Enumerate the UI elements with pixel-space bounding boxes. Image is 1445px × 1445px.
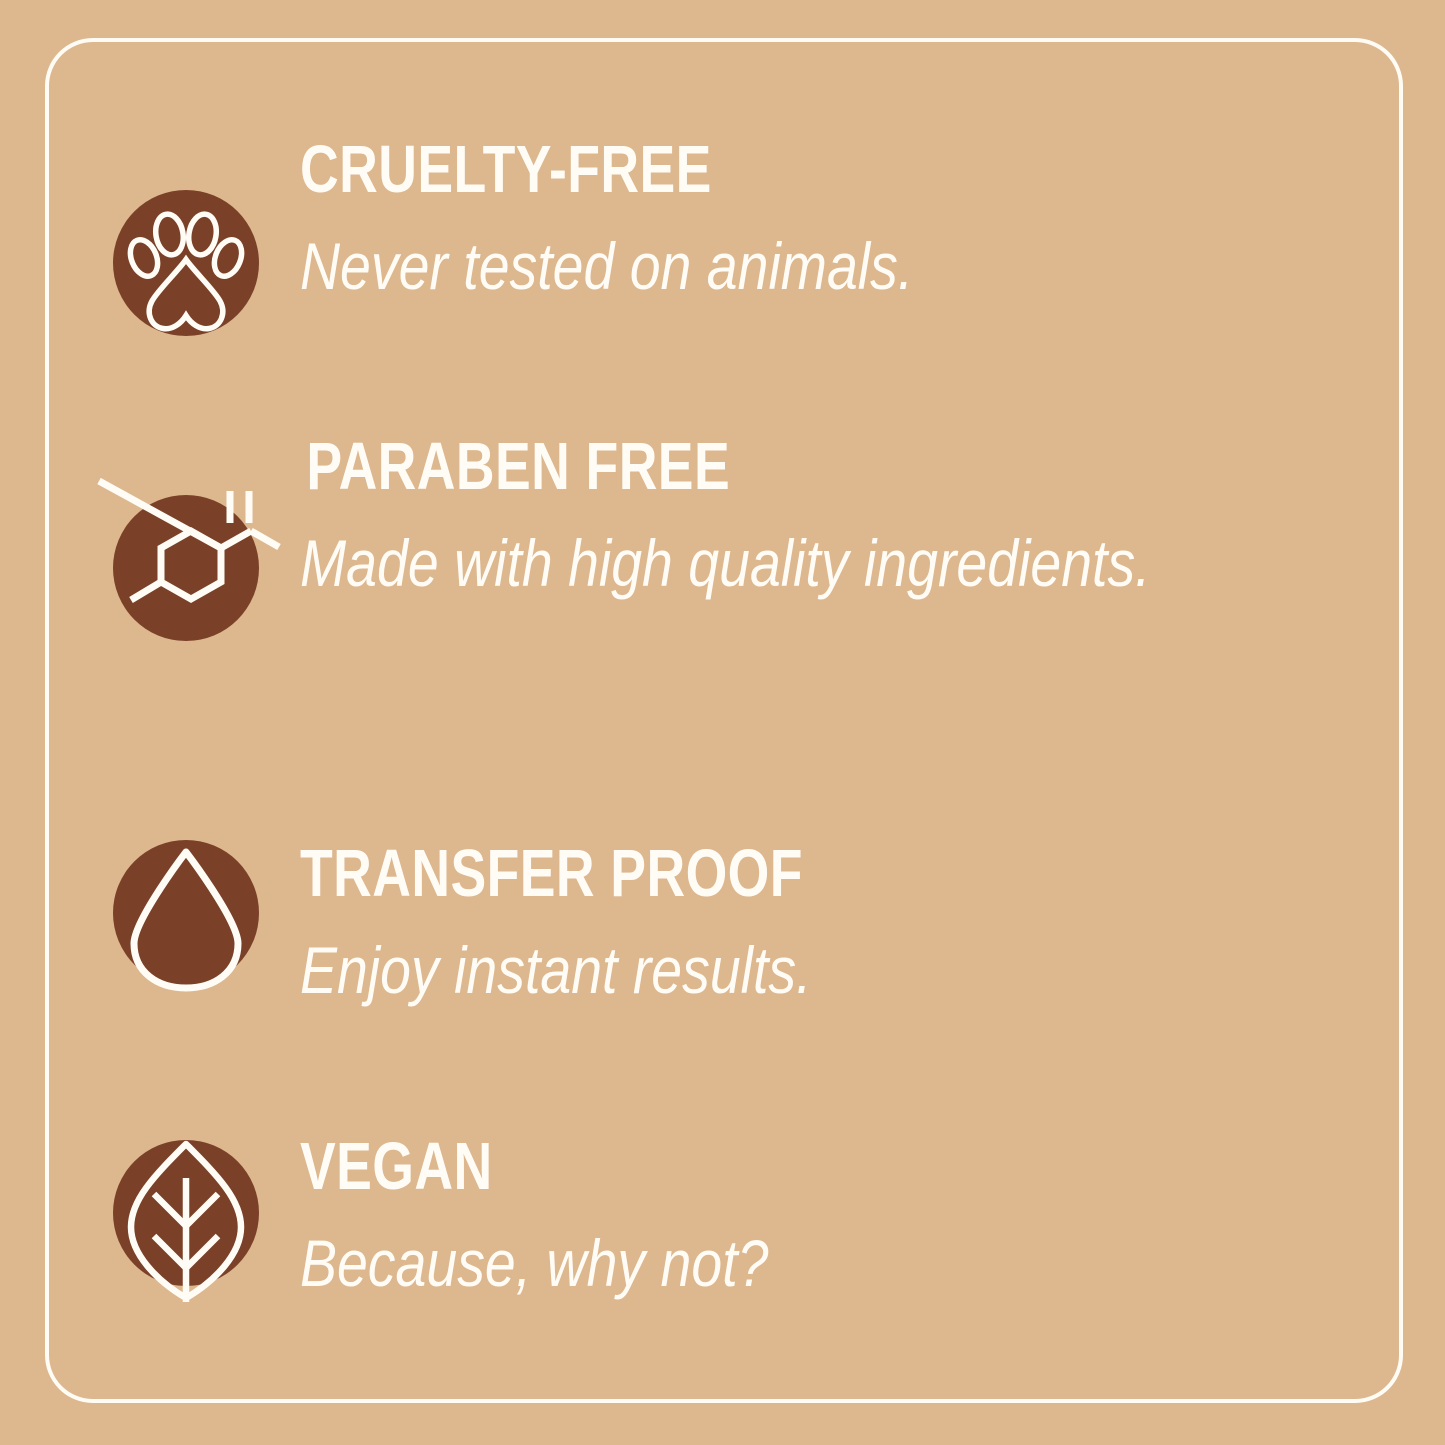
leaf-icon	[99, 1126, 273, 1300]
product-benefits-infographic: CRUELTY-FREE Never tested on animals. PA…	[0, 0, 1445, 1445]
feature-text-transfer-proof: TRANSFER PROOF Enjoy instant results.	[300, 842, 1365, 1017]
molecule-icon-badge	[113, 495, 259, 641]
feature-title-vegan: VEGAN	[300, 1135, 1152, 1199]
feature-title-paraben-free: PARABEN FREE	[300, 435, 1152, 499]
feature-title-cruelty-free: CRUELTY-FREE	[300, 138, 1152, 202]
feature-description-vegan: Because, why not?	[300, 1217, 1195, 1311]
feature-description-cruelty-free: Never tested on animals.	[300, 220, 1195, 314]
molecule-icon	[99, 481, 273, 655]
water-droplet-icon	[99, 826, 273, 1000]
feature-text-paraben-free: PARABEN FREE Made with high quality ingr…	[300, 435, 1365, 610]
feature-title-transfer-proof: TRANSFER PROOF	[300, 842, 1152, 906]
paw-print-icon-badge	[113, 190, 259, 336]
leaf-icon-badge	[113, 1140, 259, 1286]
feature-description-paraben-free: Made with high quality ingredients.	[300, 517, 1195, 611]
feature-text-cruelty-free: CRUELTY-FREE Never tested on animals.	[300, 138, 1365, 313]
water-droplet-icon-badge	[113, 840, 259, 986]
feature-description-transfer-proof: Enjoy instant results.	[300, 924, 1195, 1018]
paw-print-icon	[99, 176, 273, 350]
feature-text-vegan: VEGAN Because, why not?	[300, 1135, 1365, 1310]
